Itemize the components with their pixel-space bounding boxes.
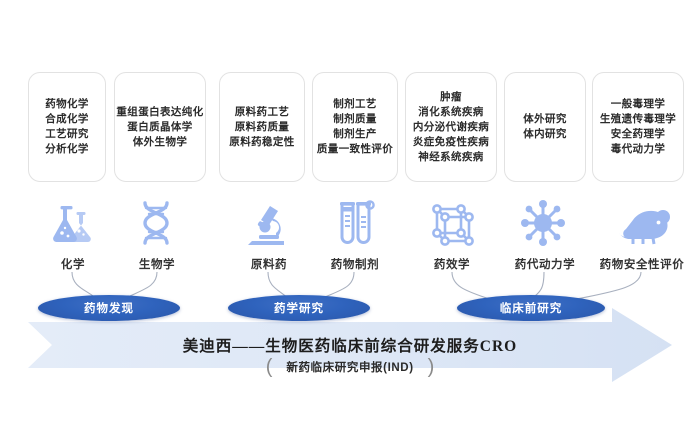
- card-line: 重组蛋白表达纯化: [116, 105, 203, 120]
- card-toxicology: 一般毒理学 生殖遗传毒理学 安全药理学 毒代动力学: [592, 72, 684, 182]
- card-line: 体外研究: [523, 112, 567, 127]
- caption-chemistry: 化学: [28, 256, 118, 272]
- card-line: 制剂工艺: [333, 97, 377, 112]
- virus-hub-icon: [518, 198, 568, 248]
- bracket-right: ): [428, 357, 435, 377]
- caption-biology: 生物学: [112, 256, 202, 272]
- card-line: 药物化学: [45, 97, 89, 112]
- card-line: 肿瘤: [440, 90, 462, 105]
- ind-label: 新药临床研究申报(IND): [286, 359, 413, 375]
- caption-pharmacodynamics: 药效学: [407, 256, 497, 272]
- card-formulation: 制剂工艺 制剂质量 制剂生产 质量一致性评价: [312, 72, 398, 182]
- test-tube-icon: [332, 199, 378, 249]
- stage-label: 临床前研究: [500, 300, 563, 316]
- bracket-left: (: [266, 357, 273, 377]
- arrow-title: 美迪西——生物医药临床前综合研发服务CRO: [0, 334, 700, 356]
- card-line: 质量一致性评价: [317, 142, 393, 157]
- card-line: 合成化学: [45, 112, 89, 127]
- card-line: 神经系统疾病: [418, 150, 483, 165]
- card-disease-areas: 肿瘤 消化系统疾病 内分泌代谢疾病 炎症免疫性疾病 神经系统疾病: [405, 72, 497, 182]
- card-medicinal-chemistry: 药物化学 合成化学 工艺研究 分析化学: [28, 72, 106, 182]
- card-line: 制剂质量: [333, 112, 377, 127]
- card-line: 一般毒理学: [611, 97, 666, 112]
- card-line: 原料药工艺: [235, 105, 290, 120]
- dna-icon: [132, 199, 180, 249]
- card-line: 工艺研究: [45, 127, 89, 142]
- stage-label: 药学研究: [274, 300, 324, 316]
- card-line: 毒代动力学: [611, 142, 666, 157]
- card-line: 生殖遗传毒理学: [600, 112, 676, 127]
- card-line: 体内研究: [523, 127, 567, 142]
- diagram-canvas: 药物化学 合成化学 工艺研究 分析化学 重组蛋白表达纯化 蛋白质晶体学 体外生物…: [0, 0, 700, 423]
- card-protein-science: 重组蛋白表达纯化 蛋白质晶体学 体外生物学: [114, 72, 206, 182]
- card-line: 体外生物学: [133, 135, 188, 150]
- stage-label: 药物发现: [84, 300, 134, 316]
- stage-pharmaceutics: 药学研究: [228, 295, 370, 321]
- molecule-grid-icon: [428, 200, 476, 248]
- stage-drug-discovery: 药物发现: [38, 295, 180, 321]
- card-line: 原料药质量: [235, 120, 290, 135]
- card-line: 炎症免疫性疾病: [413, 135, 489, 150]
- caption-pharmacokinetics: 药代动力学: [497, 256, 593, 272]
- caption-formulation: 药物制剂: [310, 256, 400, 272]
- caption-safety-evaluation: 药物安全性评价: [592, 256, 692, 272]
- card-api: 原料药工艺 原料药质量 原料药稳定性: [219, 72, 305, 182]
- card-line: 原料药稳定性: [229, 135, 294, 150]
- card-line: 蛋白质晶体学: [127, 120, 192, 135]
- card-line: 安全药理学: [611, 127, 666, 142]
- ind-bracket-row: ( 新药临床研究申报(IND) ): [0, 357, 700, 377]
- card-line: 消化系统疾病: [418, 105, 483, 120]
- card-line: 内分泌代谢疾病: [413, 120, 489, 135]
- flask-icon: [48, 200, 96, 248]
- card-line: 分析化学: [45, 142, 89, 157]
- caption-api: 原料药: [224, 256, 314, 272]
- card-line: 制剂生产: [333, 127, 377, 142]
- mouse-icon: [619, 205, 673, 249]
- stage-preclinical: 临床前研究: [457, 295, 605, 321]
- card-dmpk-studies: 体外研究 体内研究: [504, 72, 586, 182]
- microscope-icon: [245, 200, 293, 248]
